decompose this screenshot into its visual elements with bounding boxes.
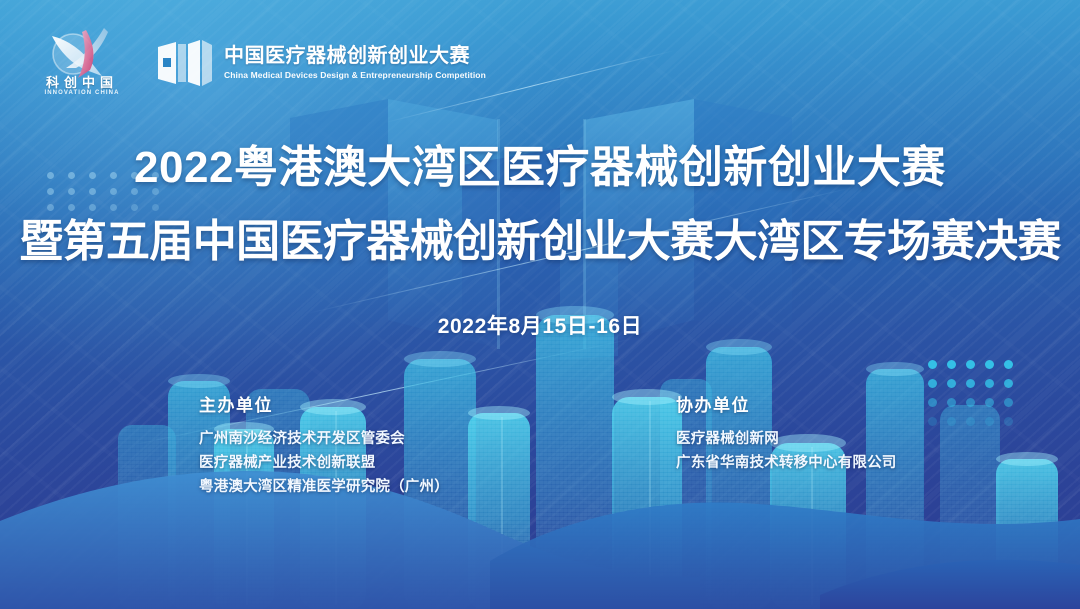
organizers-host: 主办单位 广州南沙经济技术开发区管委会 医疗器械产业技术创新联盟 粤港澳大湾区精… (199, 391, 449, 499)
logo-row: 科创中国 INNOVATION CHINA 中国医疗器械创新创业大赛 China… (34, 26, 486, 100)
organizers-host-item: 粤港澳大湾区精准医学研究院（广州） (199, 475, 449, 499)
logo-innovation-china-cn: 科创中国 (34, 76, 130, 90)
dot-grid-right (928, 360, 1038, 430)
organizers-host-heading: 主办单位 (199, 391, 449, 416)
headline-line-1: 2022粤港澳大湾区医疗器械创新创业大赛 (0, 131, 1080, 195)
logo-innovation-china-en: INNOVATION CHINA (34, 90, 130, 96)
organizers-coorganizer: 协办单位 医疗器械创新网 广东省华南技术转移中心有限公司 (676, 391, 897, 475)
headline-line-2: 暨第五届中国医疗器械创新创业大赛大湾区专场赛决赛 (0, 205, 1080, 269)
open-door-icon (156, 38, 212, 88)
logo-innovation-china: 科创中国 INNOVATION CHINA (34, 26, 130, 100)
logo-cmdd: 中国医疗器械创新创业大赛 China Medical Devices Desig… (156, 38, 486, 88)
logo-cmdd-en: China Medical Devices Design & Entrepren… (224, 69, 486, 81)
organizers-coorganizer-item: 医疗器械创新网 (676, 427, 897, 451)
conference-banner: 科创中国 INNOVATION CHINA 中国医疗器械创新创业大赛 China… (0, 0, 1080, 609)
logo-cmdd-text: 中国医疗器械创新创业大赛 China Medical Devices Desig… (224, 45, 486, 81)
organizers-host-item: 医疗器械产业技术创新联盟 (199, 451, 449, 475)
city-skyline-graphic (0, 229, 1080, 609)
organizers-coorganizer-heading: 协办单位 (676, 391, 897, 416)
logo-cmdd-cn: 中国医疗器械创新创业大赛 (224, 45, 486, 67)
event-date: 2022年8月15日-16日 (0, 310, 1080, 340)
organizers-coorganizer-item: 广东省华南技术转移中心有限公司 (676, 451, 897, 475)
organizers-host-item: 广州南沙经济技术开发区管委会 (199, 427, 449, 451)
bird-swoosh-icon (42, 26, 122, 78)
bottom-wave-shapes (0, 449, 1080, 609)
